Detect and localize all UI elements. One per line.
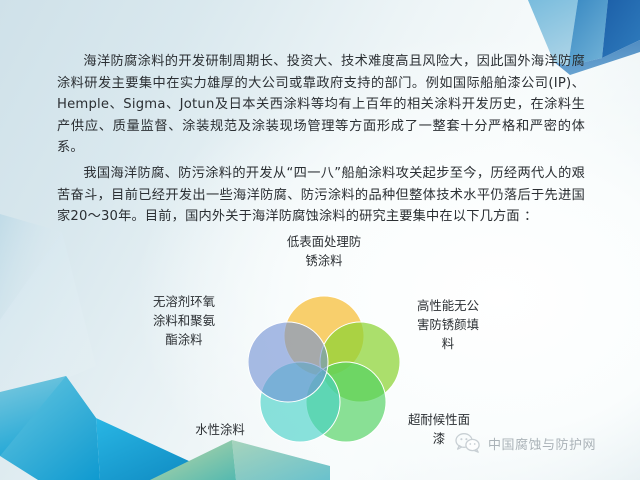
watermark-text: 中国腐蚀与防护网	[488, 434, 596, 453]
venn-circle-solvent-free	[248, 322, 328, 402]
paragraph-two: 我国海洋防腐、防污涂料的开发从“四一八”船舶涂料攻关起步至今，历经两代人的艰苦奋…	[57, 163, 585, 228]
venn-label-waterborne-coating: 水性涂料	[158, 420, 282, 439]
venn-label-high-performance-pigment: 高性能无公 害防锈颜填 料	[392, 296, 504, 353]
venn-label-low-surface-coating: 低表面处理防 锈涂料	[248, 232, 400, 270]
paragraph-one: 海洋防腐涂料的开发研制周期长、投资大、技术难度高且风险大，因此国外海洋防腐涂料研…	[57, 51, 585, 159]
venn-label-solvent-free-epoxy: 无溶剂环氧 涂料和聚氨 酯涂料	[128, 292, 240, 349]
wechat-icon	[455, 432, 481, 454]
watermark: 中国腐蚀与防护网	[455, 432, 596, 454]
presentation-slide: 海洋防腐涂料的开发研制周期长、投资大、技术难度高且风险大，因此国外海洋防腐涂料研…	[0, 0, 640, 480]
